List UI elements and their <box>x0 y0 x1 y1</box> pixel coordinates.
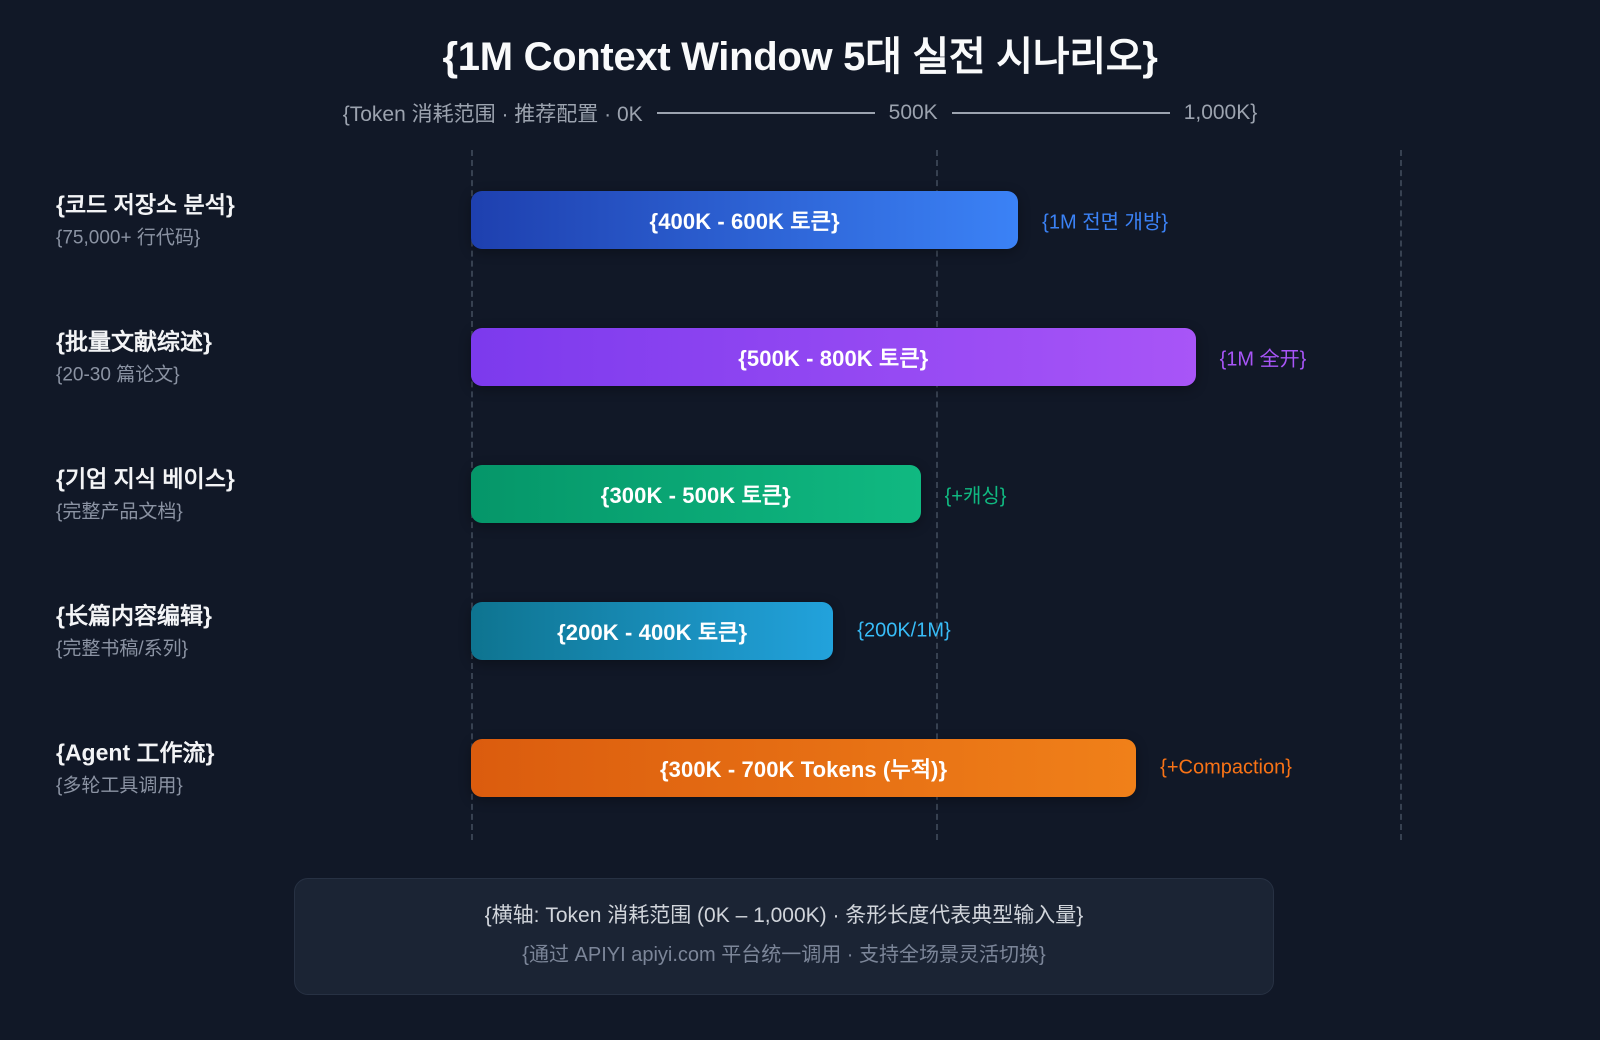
row-label-title: {批量文献综述} <box>56 327 446 356</box>
footer-platform-note: {通过 APIYI apiyi.com 平台统一调用 · 支持全场景灵活切换} <box>315 941 1253 970</box>
bar-track: {300K - 500K 토큰}{+캐싱} <box>471 465 1531 523</box>
scale-rule-left-icon <box>657 112 875 114</box>
bar-value-label: {300K - 700K Tokens (누적)} <box>660 752 947 784</box>
chart-plot-area: {코드 저장소 분석}{75,000+ 行代码}{400K - 600K 토큰}… <box>0 150 1600 850</box>
row-label-subtitle: {完整产品文档} <box>56 500 446 524</box>
bar-value-label: {200K - 400K 토큰} <box>557 615 747 647</box>
chart-row: {批量文献综述}{20-30 篇论文}{500K - 800K 토큰}{1M 全… <box>0 297 1600 417</box>
chart-footer-panel: {横轴: Token 消耗范围 (0K – 1,000K) · 条形长度代表典型… <box>294 878 1274 995</box>
row-label-title: {기업 지식 베이스} <box>56 464 446 493</box>
row-label: {Agent 工作流}{多轮工具调用} <box>56 738 446 798</box>
bar-track: {200K - 400K 토큰}{200K/1M} <box>471 602 1531 660</box>
scale-rule-right-icon <box>952 112 1170 114</box>
bar-value-label: {400K - 600K 토큰} <box>650 204 840 236</box>
chart-subtitle: {Token 消耗范围 · 推荐配置 · 0K 500K 1,000K} <box>0 98 1600 128</box>
bar-annotation: {1M 全开} <box>1220 343 1307 372</box>
chart-bar[interactable]: {400K - 600K 토큰} <box>471 191 1018 249</box>
bar-annotation: {+캐싱} <box>945 480 1007 509</box>
row-label: {기업 지식 베이스}{完整产品文档} <box>56 464 446 524</box>
bar-value-label: {300K - 500K 토큰} <box>601 478 791 510</box>
bar-track: {400K - 600K 토큰}{1M 전면 개방} <box>471 191 1531 249</box>
chart-bar[interactable]: {300K - 700K Tokens (누적)} <box>471 739 1136 797</box>
row-label-title: {Agent 工作流} <box>56 738 446 767</box>
subtitle-midpoint: 500K <box>889 101 938 125</box>
chart-row: {코드 저장소 분석}{75,000+ 行代码}{400K - 600K 토큰}… <box>0 160 1600 280</box>
chart-bar[interactable]: {200K - 400K 토큰} <box>471 602 833 660</box>
bar-track: {500K - 800K 토큰}{1M 全开} <box>471 328 1531 386</box>
subtitle-suffix: 1,000K} <box>1184 101 1258 125</box>
row-label-title: {长篇内容编辑} <box>56 601 446 630</box>
chart-header: {1M Context Window 5대 실전 시나리오} {Token 消耗… <box>0 0 1600 128</box>
chart-bar[interactable]: {300K - 500K 토큰} <box>471 465 921 523</box>
page-title: {1M Context Window 5대 실전 시나리오} <box>0 34 1600 80</box>
bar-annotation: {+Compaction} <box>1160 757 1292 780</box>
row-label-title: {코드 저장소 분석} <box>56 190 446 219</box>
row-label-subtitle: {75,000+ 行代码} <box>56 226 446 250</box>
chart-row: {长篇内容编辑}{完整书稿/系列}{200K - 400K 토큰}{200K/1… <box>0 571 1600 691</box>
row-label-subtitle: {20-30 篇论文} <box>56 363 446 387</box>
chart-row: {기업 지식 베이스}{完整产品文档}{300K - 500K 토큰}{+캐싱} <box>0 434 1600 554</box>
row-label-subtitle: {完整书稿/系列} <box>56 637 446 661</box>
chart-row: {Agent 工作流}{多轮工具调用}{300K - 700K Tokens (… <box>0 708 1600 828</box>
row-label: {长篇内容编辑}{完整书稿/系列} <box>56 601 446 661</box>
row-label-subtitle: {多轮工具调用} <box>56 774 446 798</box>
bar-annotation: {1M 전면 개방} <box>1042 206 1168 235</box>
row-label: {코드 저장소 분석}{75,000+ 行代码} <box>56 190 446 250</box>
chart-bar[interactable]: {500K - 800K 토큰} <box>471 328 1196 386</box>
bar-track: {300K - 700K Tokens (누적)}{+Compaction} <box>471 739 1531 797</box>
footer-axis-note: {横轴: Token 消耗范围 (0K – 1,000K) · 条形长度代表典型… <box>315 901 1253 931</box>
row-label: {批量文献综述}{20-30 篇论文} <box>56 327 446 387</box>
bar-annotation: {200K/1M} <box>857 620 950 643</box>
bar-value-label: {500K - 800K 토큰} <box>738 341 928 373</box>
subtitle-prefix: {Token 消耗范围 · 推荐配置 · 0K <box>343 98 643 128</box>
